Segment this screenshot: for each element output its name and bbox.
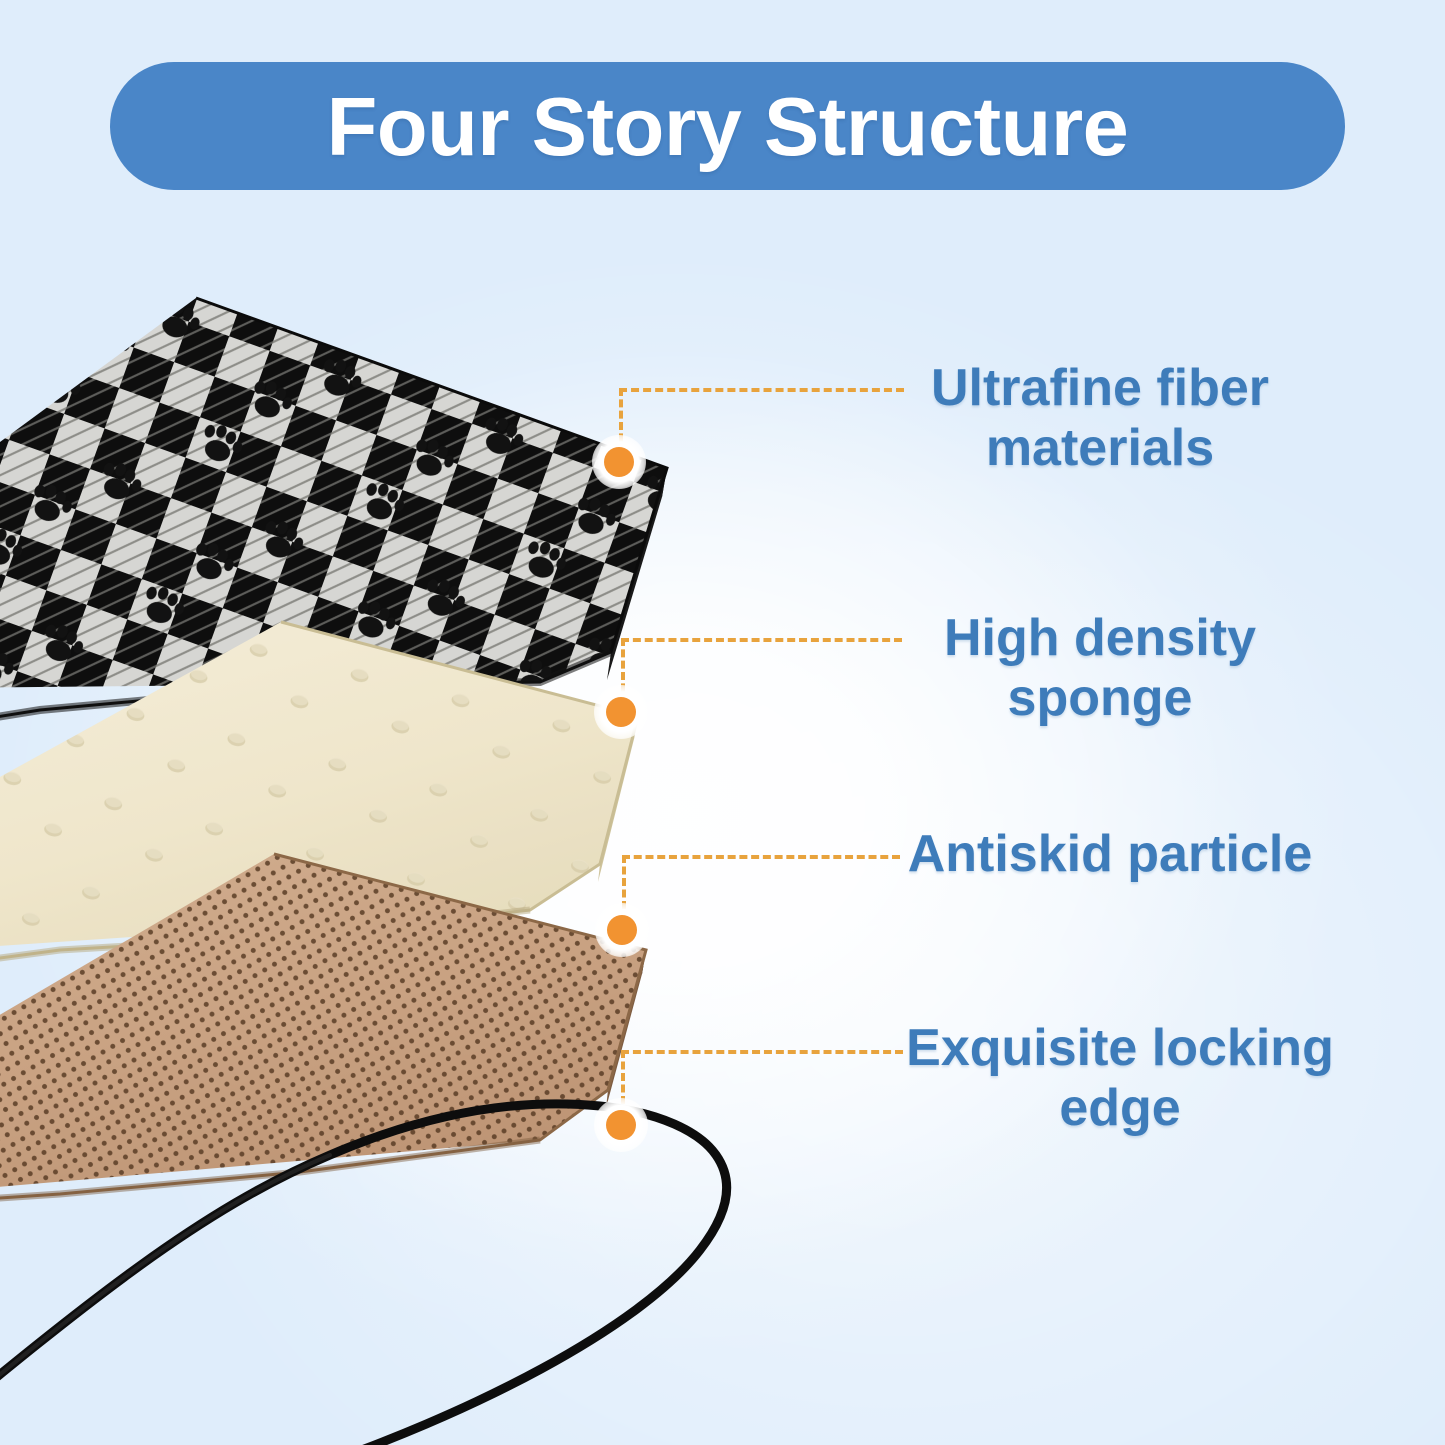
marker-ultrafine-fiber-materials[interactable]	[592, 435, 646, 489]
callout-label-ultrafine-fiber-materials: Ultrafine fiber materials	[880, 358, 1320, 479]
leader-horizontal-segment	[619, 388, 904, 392]
callout-label-high-density-sponge: High density sponge	[880, 608, 1320, 729]
marker-high-density-sponge[interactable]	[594, 685, 648, 739]
leader-horizontal-segment	[621, 638, 902, 642]
infographic-canvas: Four Story Structure	[0, 0, 1445, 1445]
product-layers-illustration	[0, 250, 760, 1445]
marker-dot	[604, 447, 634, 477]
leader-horizontal-segment	[622, 855, 900, 859]
marker-exquisite-locking-edge[interactable]	[594, 1098, 648, 1152]
title-banner: Four Story Structure	[110, 62, 1345, 190]
marker-dot	[607, 915, 637, 945]
marker-dot	[606, 697, 636, 727]
leader-horizontal-segment	[621, 1050, 903, 1054]
marker-dot	[606, 1110, 636, 1140]
callout-label-exquisite-locking-edge: Exquisite locking edge	[880, 1018, 1360, 1139]
page-title: Four Story Structure	[327, 85, 1129, 168]
marker-antiskid-particle[interactable]	[595, 903, 649, 957]
callout-label-antiskid-particle: Antiskid particle	[880, 824, 1340, 884]
